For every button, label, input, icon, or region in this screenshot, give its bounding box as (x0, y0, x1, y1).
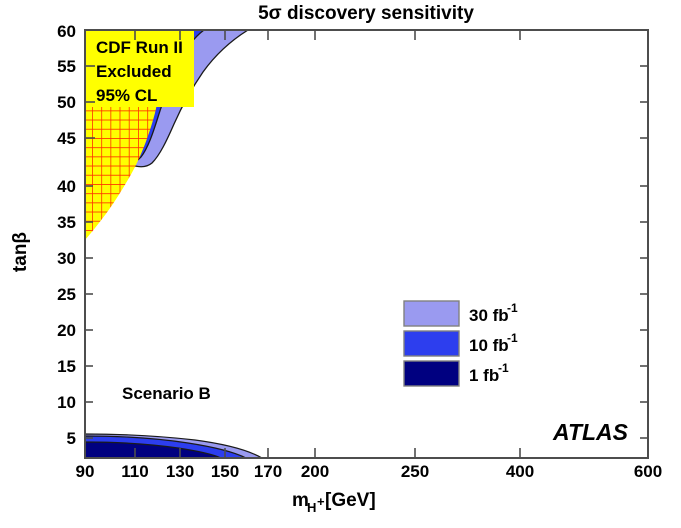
x-axis-label-sup: + (317, 494, 325, 509)
y-tick-label: 60 (57, 22, 76, 41)
legend-exponent-10fb: -1 (507, 331, 518, 345)
y-tick-label: 50 (57, 93, 76, 112)
legend-swatch-10fb (404, 331, 459, 356)
chart-canvas: 5σ discovery sensitivity 90 110 130 150 … (0, 0, 681, 528)
x-tick-label: 200 (301, 462, 329, 481)
y-tick-label: 25 (57, 285, 76, 304)
legend-label-1fb: 1 fb (469, 366, 499, 385)
y-tick-label: 10 (57, 393, 76, 412)
cdf-label-line1: CDF Run II (96, 38, 183, 57)
legend-swatch-1fb (404, 361, 459, 386)
legend-exponent-30fb: -1 (507, 301, 518, 315)
y-tick-label: 15 (57, 357, 76, 376)
x-tick-label: 170 (254, 462, 282, 481)
x-axis-label-sub: H (307, 500, 316, 515)
x-tick-label: 130 (166, 462, 194, 481)
x-axis-label-unit: [GeV] (325, 490, 376, 511)
x-tick-label: 250 (401, 462, 429, 481)
legend-label-30fb: 30 fb (469, 306, 509, 325)
y-tick-label: 35 (57, 213, 76, 232)
y-tick-labels: 5 10 15 20 25 30 35 40 45 50 55 60 (57, 22, 76, 448)
x-axis-label: m H + [GeV] (292, 490, 376, 515)
legend-exponent-1fb: -1 (498, 361, 509, 375)
scenario-label: Scenario B (122, 384, 211, 403)
cdf-label-line3: 95% CL (96, 86, 157, 105)
y-tick-label: 30 (57, 249, 76, 268)
x-tick-label: 400 (506, 462, 534, 481)
x-tick-label: 600 (634, 462, 662, 481)
y-tick-label: 40 (57, 177, 76, 196)
x-tick-label: 110 (121, 462, 148, 481)
figure-root: 5σ discovery sensitivity 90 110 130 150 … (0, 0, 681, 528)
x-tick-label: 150 (211, 462, 239, 481)
y-tick-label: 5 (67, 429, 76, 448)
chart-title: 5σ discovery sensitivity (258, 3, 474, 24)
legend-swatch-30fb (404, 301, 459, 326)
x-tick-label: 90 (76, 462, 95, 481)
y-axis-label: tanβ (10, 232, 31, 272)
y-tick-label: 45 (57, 129, 76, 148)
y-tick-label: 20 (57, 321, 76, 340)
x-tick-labels: 90 110 130 150 170 200 250 400 600 (76, 462, 663, 481)
experiment-label: ATLAS (552, 419, 629, 445)
legend-label-10fb: 10 fb (469, 336, 509, 355)
y-tick-label: 55 (57, 57, 76, 76)
cdf-label-line2: Excluded (96, 62, 172, 81)
